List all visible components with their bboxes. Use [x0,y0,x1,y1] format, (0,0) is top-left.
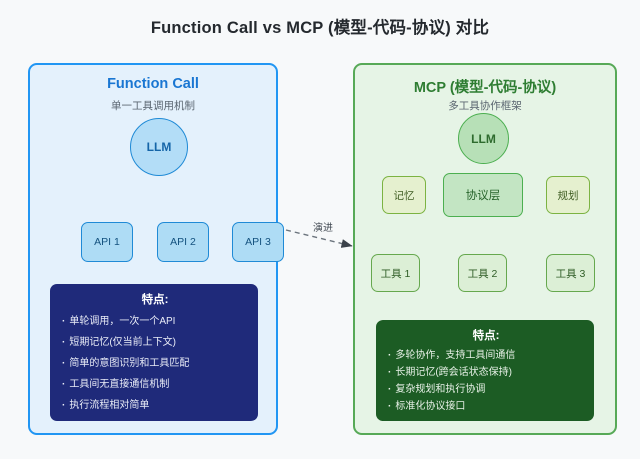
tool-node-1[interactable]: 工具 1 [371,254,420,292]
panel-mcp-title: MCP (模型-代码-协议) [355,76,615,97]
feature-item: 多轮协作，支持工具间通信 [388,347,584,364]
features-title-function-call: 特点: [62,291,248,307]
feature-item: 执行流程相对简单 [62,395,248,416]
api-node-3[interactable]: API 3 [232,222,284,262]
features-list-function-call: 单轮调用，一次一个API 短期记忆(仅当前上下文) 简单的意图识别和工具匹配 工… [62,311,248,416]
feature-item: 长期记忆(跨会话状态保持) [388,364,584,381]
tool-node-3[interactable]: 工具 3 [546,254,595,292]
api-node-2[interactable]: API 2 [157,222,209,262]
panel-function-call-subtitle: 单一工具调用机制 [30,98,276,113]
llm-node-mcp[interactable]: LLM [458,113,509,164]
llm-node-function-call[interactable]: LLM [130,118,188,176]
features-list-mcp: 多轮协作，支持工具间通信 长期记忆(跨会话状态保持) 复杂规划和执行协调 标准化… [388,347,584,415]
features-box-mcp: 特点: 多轮协作，支持工具间通信 长期记忆(跨会话状态保持) 复杂规划和执行协调… [376,320,594,421]
feature-item: 复杂规划和执行协调 [388,381,584,398]
page-title: Function Call vs MCP (模型-代码-协议) 对比 [0,14,640,38]
feature-item: 短期记忆(仅当前上下文) [62,332,248,353]
feature-item: 标准化协议接口 [388,398,584,415]
tool-node-2[interactable]: 工具 2 [458,254,507,292]
planning-node[interactable]: 规划 [546,176,590,214]
feature-item: 工具间无直接通信机制 [62,374,248,395]
evolution-label: 演进 [311,219,335,234]
features-box-function-call: 特点: 单轮调用，一次一个API 短期记忆(仅当前上下文) 简单的意图识别和工具… [50,284,258,421]
feature-item: 单轮调用，一次一个API [62,311,248,332]
api-node-1[interactable]: API 1 [81,222,133,262]
panel-mcp-subtitle: 多工具协作框架 [355,98,615,113]
protocol-layer-node[interactable]: 协议层 [443,173,523,217]
panel-function-call-title: Function Call [30,76,276,92]
feature-item: 简单的意图识别和工具匹配 [62,353,248,374]
features-title-mcp: 特点: [388,327,584,343]
memory-node[interactable]: 记忆 [382,176,426,214]
